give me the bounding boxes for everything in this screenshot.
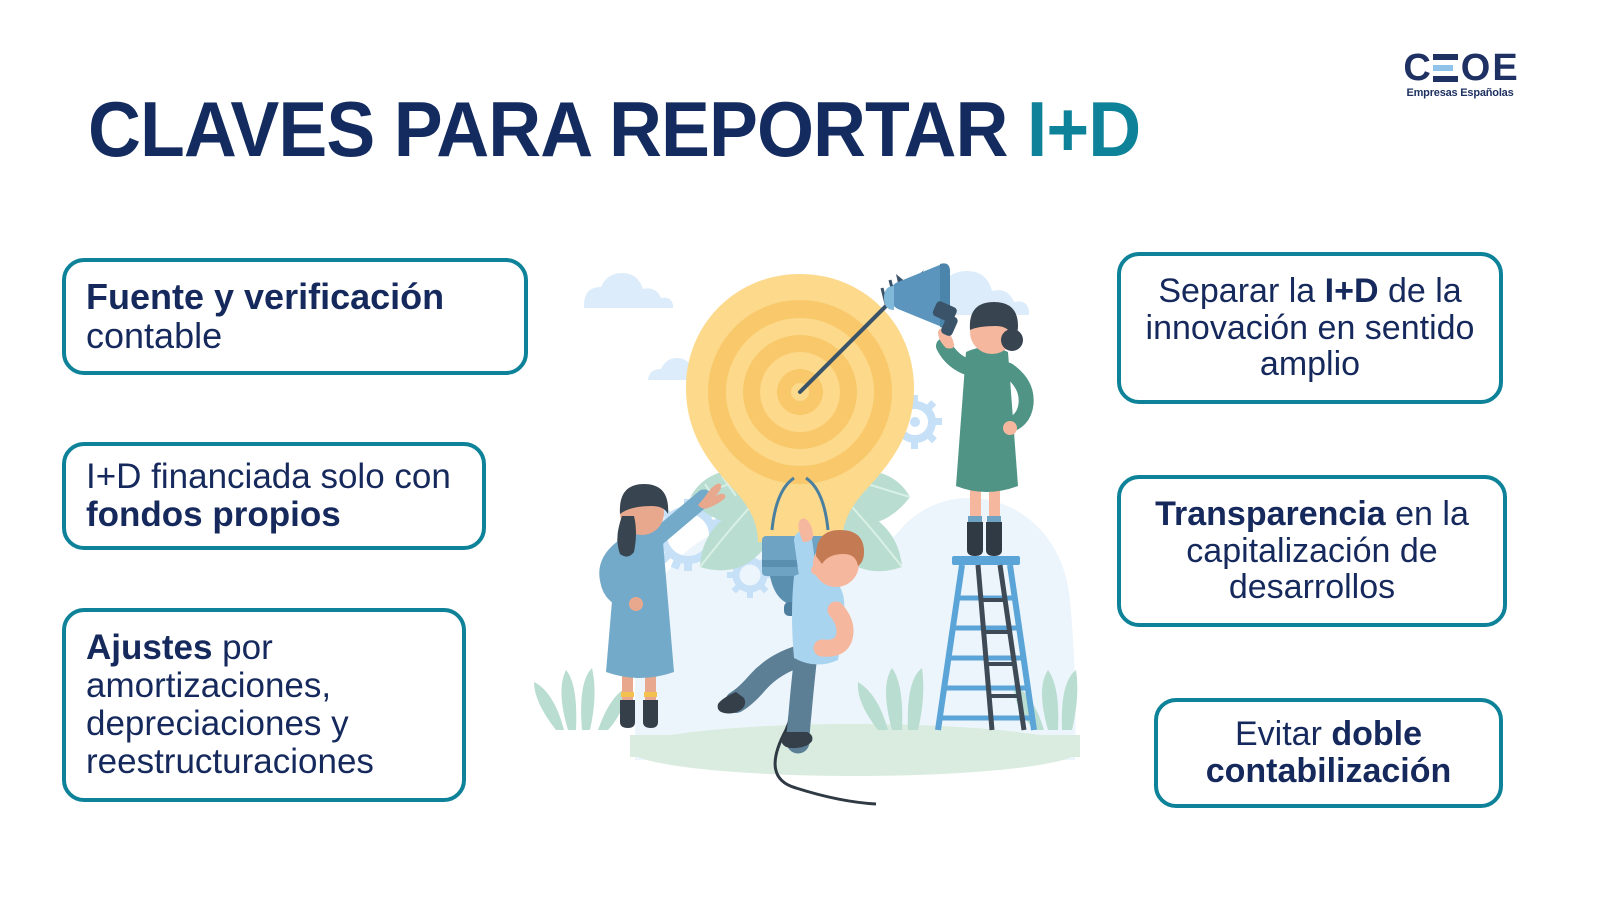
cloud-icon bbox=[584, 273, 673, 308]
card-fuente-verificacion: Fuente y verificación contable bbox=[62, 258, 528, 375]
card-bold-text: Ajustes bbox=[86, 628, 212, 667]
card-regular-text: I+D financiada solo con bbox=[86, 457, 451, 496]
lightbulb-target-teamwork-illustration bbox=[500, 230, 1100, 830]
page-title-main: CLAVES PARA REPORTAR bbox=[88, 85, 1027, 173]
logo-letter-o: O bbox=[1461, 53, 1490, 83]
card-bold-text: Transparencia bbox=[1155, 495, 1386, 533]
card-regular-text: Evitar bbox=[1235, 715, 1331, 753]
header: CLAVES PARA REPORTAR I+D C O E Empresas … bbox=[0, 0, 1600, 210]
card-regular-text: Separar la bbox=[1158, 272, 1324, 310]
page-title-accent: I+D bbox=[1027, 85, 1140, 173]
ceoe-logo-mark: C O E bbox=[1392, 52, 1528, 84]
card-bold-text: I+D bbox=[1325, 272, 1379, 310]
card-doble-contabilizacion: Evitar doble contabilización bbox=[1154, 698, 1503, 808]
ceoe-logo: C O E Empresas Españolas bbox=[1392, 52, 1528, 99]
card-bold-text: fondos propios bbox=[86, 495, 341, 534]
card-text: I+D financiada solo con fondos propios bbox=[86, 458, 462, 534]
card-text: Ajustes por amortizaciones, depreciacion… bbox=[86, 629, 442, 780]
logo-letter-c: C bbox=[1403, 53, 1429, 83]
page-title: CLAVES PARA REPORTAR I+D bbox=[88, 90, 1140, 168]
card-bold-text: Fuente y verificación bbox=[86, 276, 444, 317]
card-text: Separar la I+D de la innovación en senti… bbox=[1141, 273, 1479, 383]
plant-icon bbox=[534, 668, 626, 730]
logo-letter-e: E bbox=[1492, 53, 1516, 83]
logo-letter-e-striped bbox=[1433, 54, 1458, 82]
card-text: Transparencia en la capitalización de de… bbox=[1141, 496, 1483, 606]
card-transparencia: Transparencia en la capitalización de de… bbox=[1117, 475, 1507, 627]
card-separar-id: Separar la I+D de la innovación en senti… bbox=[1117, 252, 1503, 404]
card-text: Fuente y verificación contable bbox=[86, 278, 504, 356]
logo-tagline: Empresas Españolas bbox=[1392, 87, 1528, 99]
card-ajustes: Ajustes por amortizaciones, depreciacion… bbox=[62, 608, 466, 802]
card-text: Evitar doble contabilización bbox=[1178, 716, 1479, 789]
card-fondos-propios: I+D financiada solo con fondos propios bbox=[62, 442, 486, 550]
card-regular-text: contable bbox=[86, 315, 222, 356]
